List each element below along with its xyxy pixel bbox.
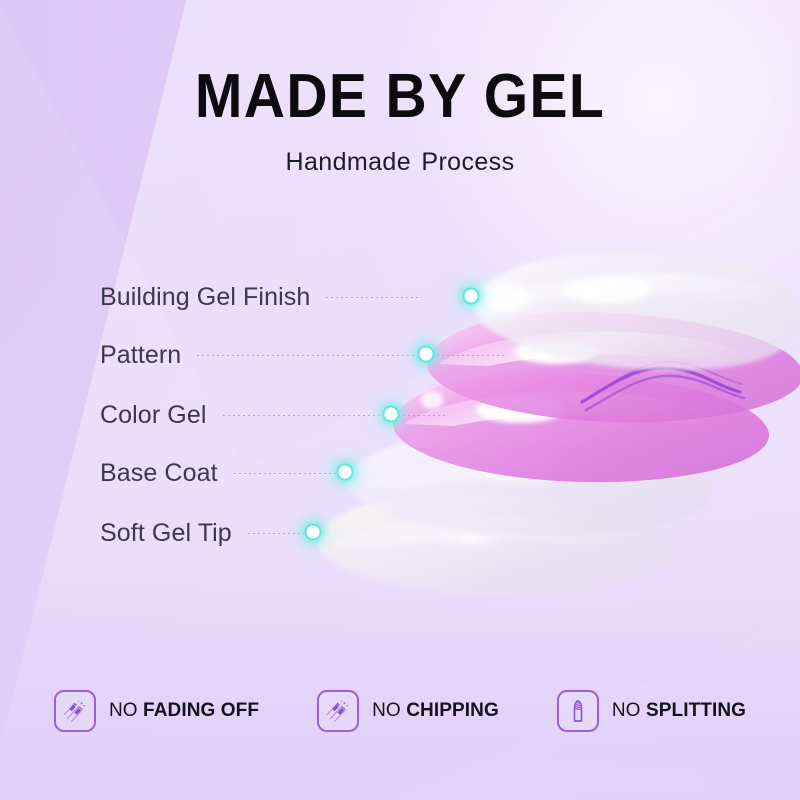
feature-label-strong: FADING OFF bbox=[143, 700, 259, 721]
layer-label-row[interactable]: Building Gel Finish bbox=[100, 280, 424, 314]
page-title: MADE BY GEL bbox=[32, 66, 768, 128]
header: MADE BY GEL Handmade Process bbox=[0, 66, 800, 177]
feature-label-lead: NO bbox=[109, 700, 143, 721]
feature-badge-list: NO FADING OFF bbox=[0, 690, 800, 732]
layer-label-text: Building Gel Finish bbox=[100, 283, 310, 312]
layer-label-row[interactable]: Base Coat bbox=[100, 456, 354, 490]
nail-brush-strokes-icon bbox=[54, 690, 96, 732]
leader-line bbox=[248, 533, 316, 534]
feature-label-lead: NO bbox=[372, 700, 406, 721]
layer-label-text: Base Coat bbox=[100, 459, 218, 488]
nail-brush-strokes-icon bbox=[317, 690, 359, 732]
layer-label-text: Pattern bbox=[100, 341, 181, 370]
feature-badge-no-chipping[interactable]: NO CHIPPING bbox=[317, 690, 499, 732]
leader-line bbox=[326, 297, 422, 298]
feature-badge-label: NO CHIPPING bbox=[372, 700, 499, 722]
layer-label-row[interactable]: Pattern bbox=[100, 338, 509, 372]
nail-tip-hatched-icon bbox=[557, 690, 599, 732]
feature-label-strong: CHIPPING bbox=[406, 700, 499, 721]
feature-badge-no-fading-off[interactable]: NO FADING OFF bbox=[54, 690, 259, 732]
leader-line bbox=[197, 355, 507, 356]
poster-canvas: MADE BY GEL Handmade Process bbox=[0, 0, 800, 800]
feature-badge-no-splitting[interactable]: NO SPLITTING bbox=[557, 690, 746, 732]
leader-line bbox=[223, 415, 445, 416]
feature-badge-label: NO FADING OFF bbox=[109, 700, 259, 722]
layer-label-row[interactable]: Color Gel bbox=[100, 398, 447, 432]
layer-label-text: Color Gel bbox=[100, 401, 207, 430]
layer-label-row[interactable]: Soft Gel Tip bbox=[100, 516, 318, 550]
feature-label-lead: NO bbox=[612, 700, 646, 721]
leader-line bbox=[234, 473, 352, 474]
page-subtitle: Handmade Process bbox=[0, 148, 800, 177]
layer-label-text: Soft Gel Tip bbox=[100, 519, 232, 548]
feature-label-strong: SPLITTING bbox=[646, 700, 746, 721]
feature-badge-label: NO SPLITTING bbox=[612, 700, 746, 722]
